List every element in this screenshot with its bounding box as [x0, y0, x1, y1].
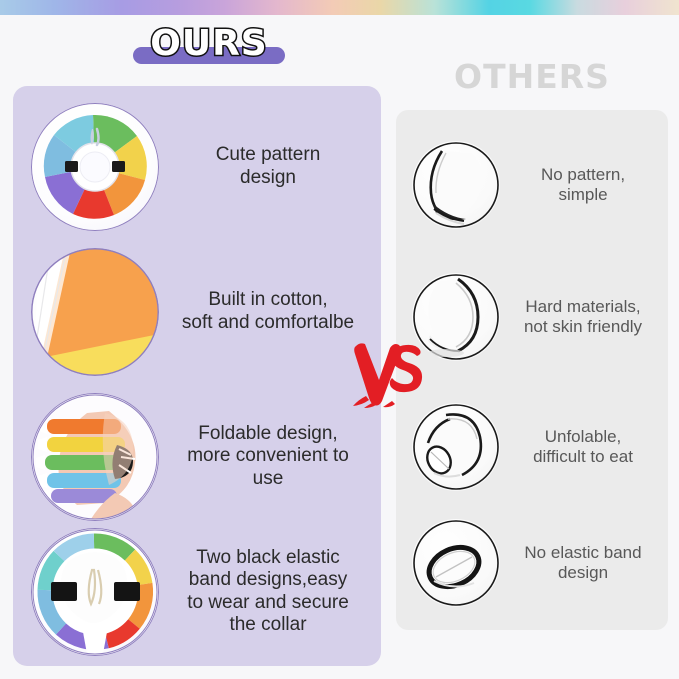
comparison-infographic: OURS OTHERS	[0, 0, 679, 679]
others-row-hard-material: Hard materials,not skin friendly	[396, 252, 668, 382]
ours-row-elastic-bands: Two black elasticband designs,easyto wea…	[13, 519, 381, 664]
others-row-no-pattern: No pattern,simple	[396, 120, 668, 250]
others-caption-no-pattern: No pattern,simple	[500, 165, 668, 206]
cotton-fabric-closeup-image	[31, 248, 159, 376]
collar-flat-with-elastic-bands-image	[31, 528, 159, 656]
ours-caption-foldable-design: Foldable design,more convenient touse	[159, 423, 381, 490]
ours-row-built-in-cotton: Built in cotton,soft and comfortalbe	[13, 239, 381, 384]
others-caption-hard-material: Hard materials,not skin friendly	[500, 297, 668, 338]
cone-collar-no-band-image	[412, 519, 500, 607]
plain-white-cone-collar-image	[412, 141, 500, 229]
hand-holding-folded-collar-image	[31, 393, 159, 521]
ours-caption-cute-pattern: Cute patterndesign	[159, 144, 381, 189]
others-title: OTHERS	[437, 57, 627, 96]
ours-title: OURS	[133, 24, 285, 64]
rolled-stiff-cone-collar-image	[412, 403, 500, 491]
rainbow-collar-front-view-image	[31, 103, 159, 231]
rainbow-gradient-strip	[0, 0, 679, 15]
ours-caption-built-in-cotton: Built in cotton,soft and comfortalbe	[159, 289, 381, 334]
ours-header: OURS	[133, 24, 285, 66]
ours-row-foldable-design: Foldable design,more convenient touse	[13, 384, 381, 529]
others-row-unfoldable: Unfolable,difficult to eat	[396, 382, 668, 512]
ours-row-cute-pattern: Cute patterndesign	[13, 94, 381, 239]
others-caption-no-elastic: No elastic banddesign	[500, 543, 668, 584]
vs-badge	[352, 338, 426, 408]
ours-caption-elastic-bands: Two black elasticband designs,easyto wea…	[159, 547, 381, 637]
others-caption-unfoldable: Unfolable,difficult to eat	[500, 427, 668, 468]
others-row-no-elastic: No elastic banddesign	[396, 498, 668, 628]
